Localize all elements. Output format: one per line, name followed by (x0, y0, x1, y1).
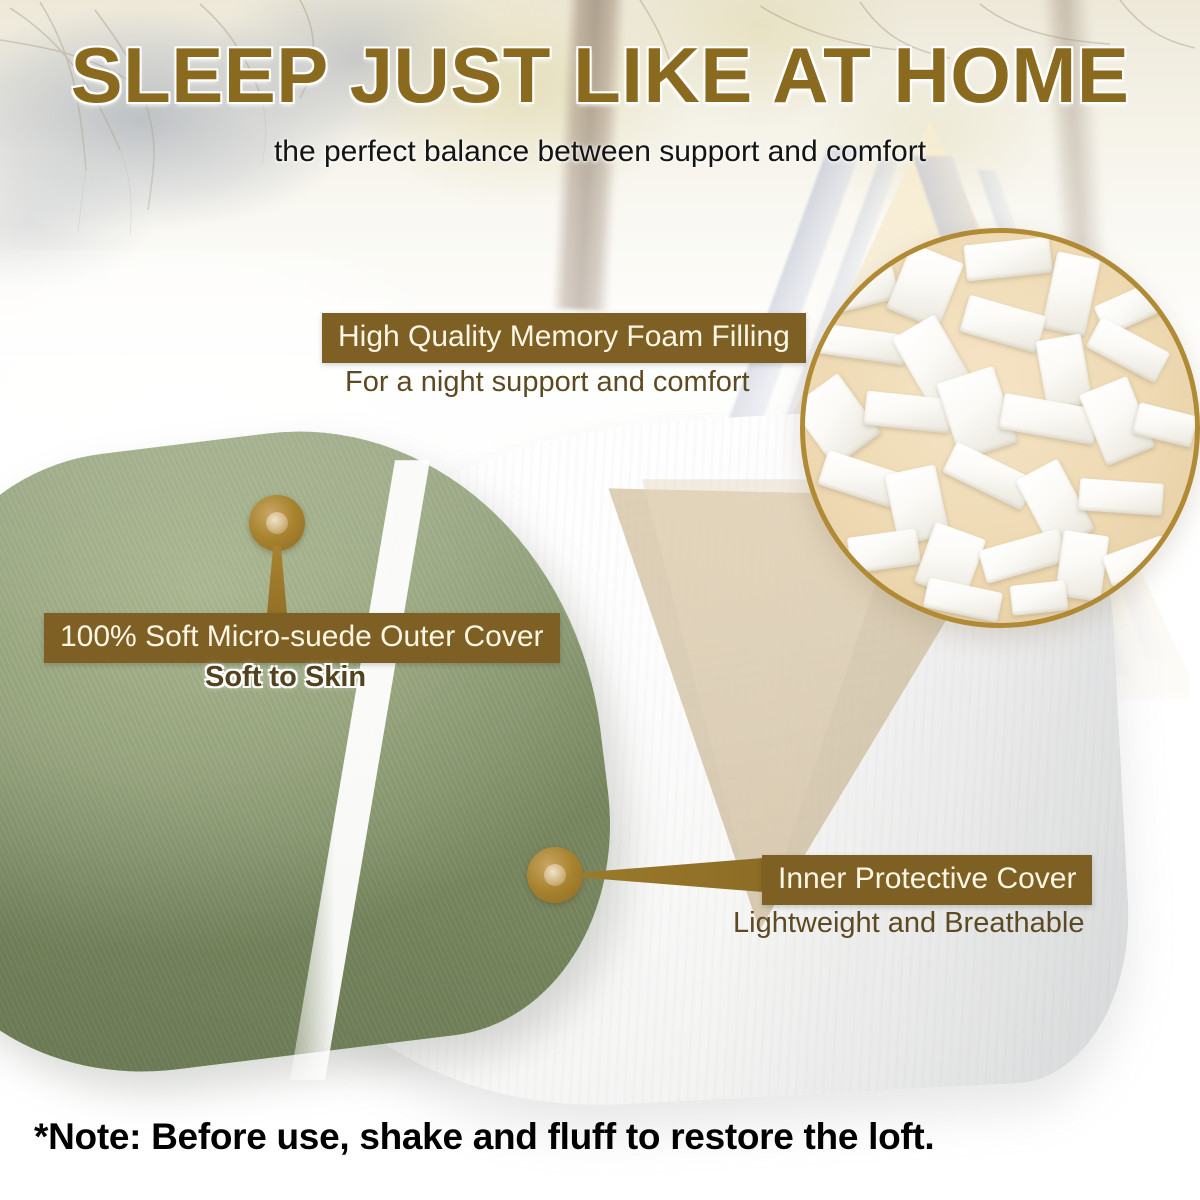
callout-badge-outer-cover[interactable]: 100% Soft Micro-suede Outer Cover (44, 613, 560, 663)
callout-marker-dot-icon[interactable] (249, 495, 305, 551)
callout-badge-inner-cover[interactable]: Inner Protective Cover (762, 855, 1092, 905)
callout-sublabel-inner-cover: Lightweight and Breathable (733, 907, 1084, 940)
memory-foam-zoom-circle (800, 228, 1200, 628)
callout-badge-memory-foam[interactable]: High Quality Memory Foam Filling (322, 313, 806, 363)
footer-note: *Note: Before use, shake and fluff to re… (34, 1116, 934, 1158)
page-title: SLEEP JUST LIKE AT HOME (0, 30, 1200, 121)
product-infographic: SLEEP JUST LIKE AT HOME the perfect bala… (0, 0, 1200, 1200)
callout-sublabel-outer-cover: Soft to Skin (205, 661, 366, 694)
callout-sublabel-memory-foam: For a night support and comfort (345, 366, 750, 399)
callout-marker-dot-icon[interactable] (527, 847, 583, 903)
page-subtitle: the perfect balance between support and … (0, 135, 1200, 169)
